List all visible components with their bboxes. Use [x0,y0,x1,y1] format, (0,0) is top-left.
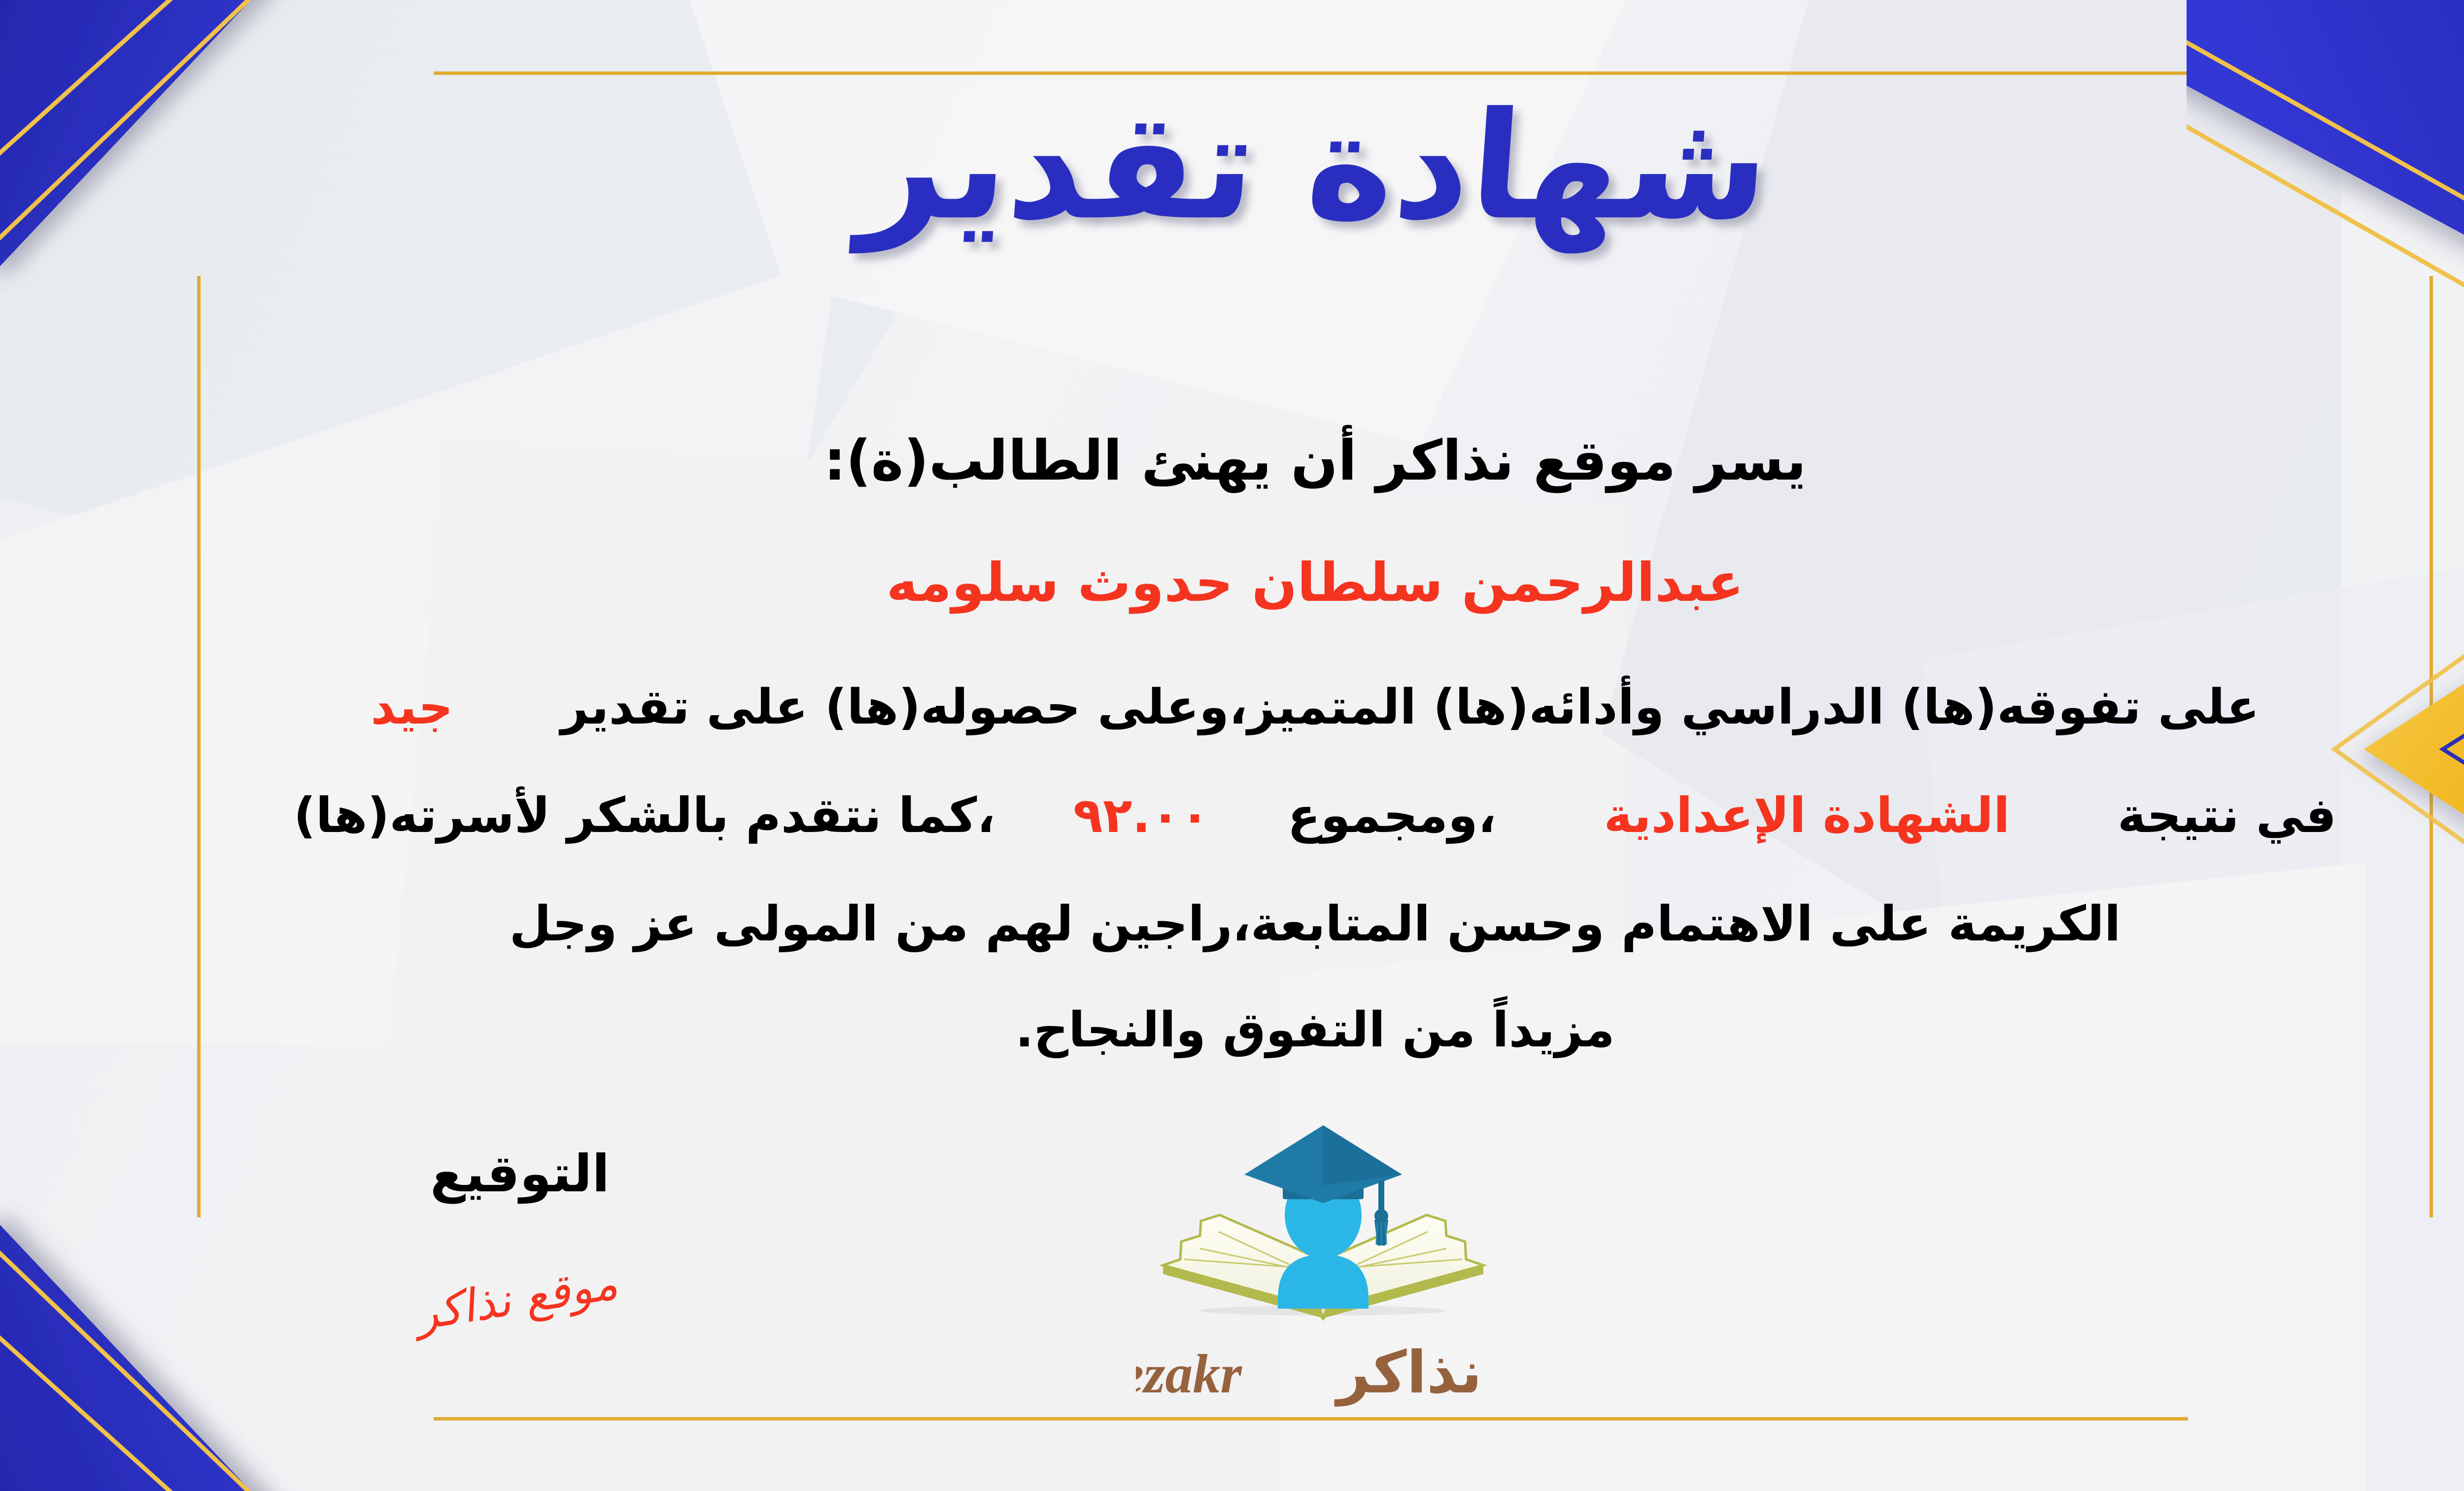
signature-label: التوقيع [367,1144,673,1204]
student-name: عبدالرحمن سلطان حدوث سلومه [0,552,2464,614]
logo-name-latin: Nezakr [1136,1344,1242,1405]
certificate-canvas: شهادة تقدير يسر موقع نذاكر أن يهنئ الطال… [0,0,2464,1491]
body-line-1-text: على تفوقه(ها) الدراسي وأدائه(ها) المتميز… [561,679,2259,735]
body-line-3: الكريمة على الاهتمام وحسن المتابعة،راجين… [197,896,2433,952]
total-score: ٩٢.٠٠ [1073,788,1210,844]
total-label: ،ومجموع [1288,788,1497,844]
thanks-text: ،كما نتقدم بالشكر لأسرته(ها) [294,788,995,844]
body-line-4: مزيداً من التفوق والنجاح. [197,1002,2433,1058]
exam-name: الشهادة الإعدادية [1604,788,2010,844]
nezakr-logo: Nezakr نذاكر [1136,1111,1510,1417]
body-line-2: في نتيجة الشهادة الإعدادية ،ومجموع ٩٢.٠٠… [197,788,2433,844]
body-line-1: على تفوقه(ها) الدراسي وأدائه(ها) المتميز… [197,679,2433,735]
grade-value: جيد [371,679,453,735]
logo-name-arabic: نذاكر [1335,1338,1482,1407]
page-title: شهادة تقدير [0,74,2464,259]
intro-line: يسر موقع نذاكر أن يهنئ الطالب(ة): [0,429,2464,493]
result-prefix: في نتيجة [2118,788,2336,844]
signature-mark: موقع نذاكر [368,1247,672,1349]
